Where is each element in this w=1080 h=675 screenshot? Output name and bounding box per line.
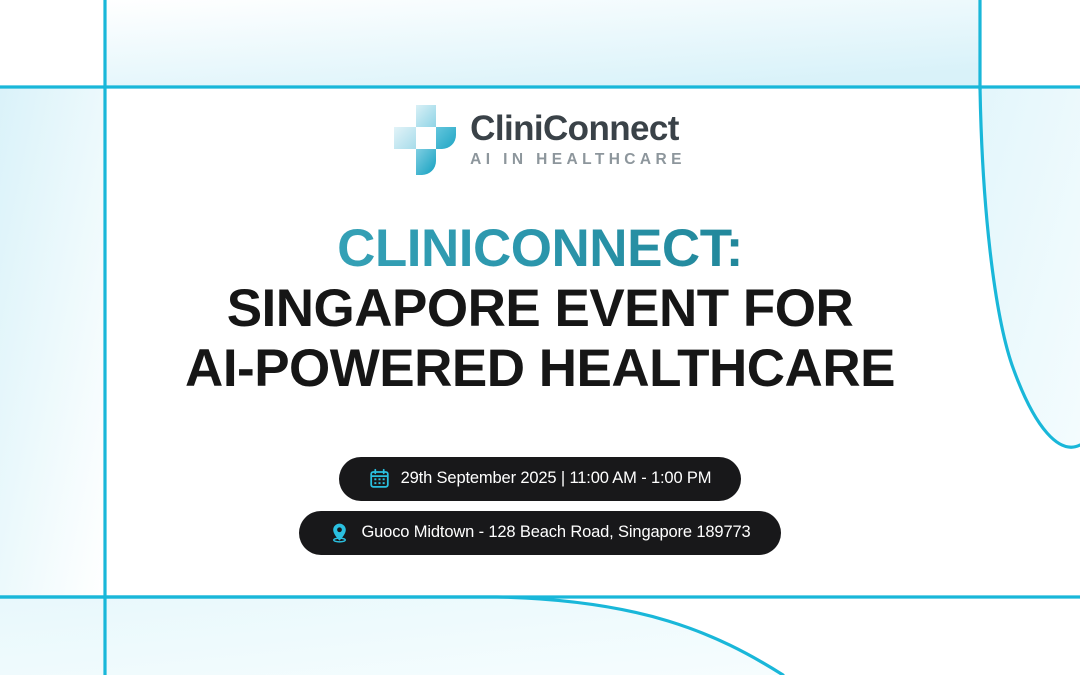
headline-line-3: AI-POWERED HEALTHCARE — [0, 339, 1080, 399]
event-details: 29th September 2025 | 11:00 AM - 1:00 PM… — [299, 457, 780, 555]
medical-cross-icon — [394, 105, 456, 175]
brand-text: CliniConnect AI IN HEALTHCARE — [470, 111, 686, 170]
brand-logo: CliniConnect AI IN HEALTHCARE — [394, 105, 686, 175]
brand-name: CliniConnect — [470, 111, 686, 146]
event-location-text: Guoco Midtown - 128 Beach Road, Singapor… — [361, 524, 750, 541]
headline-line-1: CLINICONNECT: — [0, 219, 1080, 279]
headline-line-2: SINGAPORE EVENT FOR — [0, 279, 1080, 339]
event-date-pill: 29th September 2025 | 11:00 AM - 1:00 PM — [339, 457, 742, 501]
event-date-text: 29th September 2025 | 11:00 AM - 1:00 PM — [401, 470, 712, 487]
event-location-pill: Guoco Midtown - 128 Beach Road, Singapor… — [299, 511, 780, 555]
brand-tagline: AI IN HEALTHCARE — [470, 151, 686, 170]
calendar-icon — [369, 468, 390, 489]
poster-canvas: CliniConnect AI IN HEALTHCARE CLINICONNE… — [0, 0, 1080, 675]
location-pin-icon — [329, 522, 350, 543]
page-title: CLINICONNECT: SINGAPORE EVENT FOR AI-POW… — [0, 219, 1080, 399]
poster-content: CliniConnect AI IN HEALTHCARE CLINICONNE… — [0, 0, 1080, 675]
